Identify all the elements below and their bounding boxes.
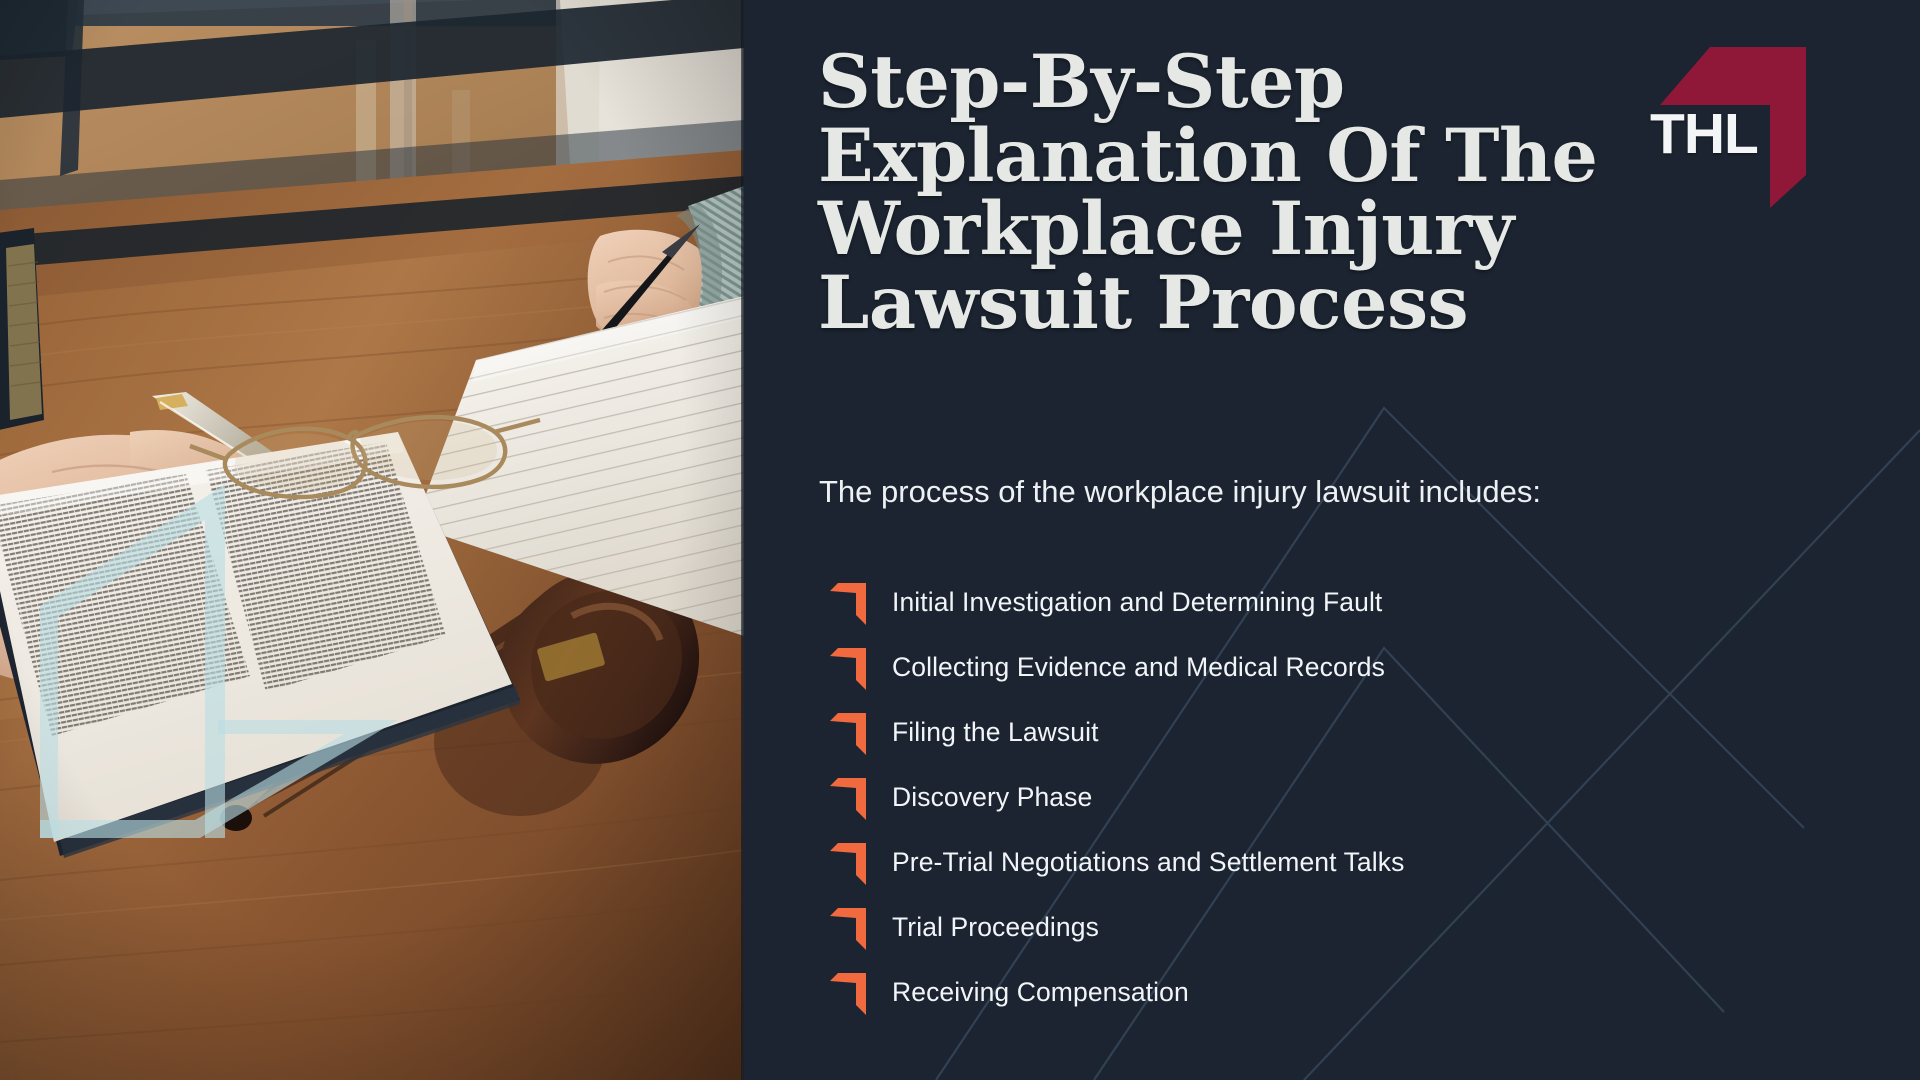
process-step-1: Initial Investigation and Determining Fa… <box>818 570 1828 635</box>
desk-scene-illustration <box>0 0 744 1080</box>
list-item-label: Filing the Lawsuit <box>892 717 1099 748</box>
content-column: THL Step-By-Step Explanation Of The Work… <box>818 0 1878 1080</box>
arrow-bullet-icon <box>830 777 866 821</box>
list-item-label: Receiving Compensation <box>892 977 1189 1008</box>
arrow-bullet-icon <box>830 907 866 951</box>
arrow-bullet-icon <box>830 972 866 1016</box>
process-step-4: Discovery Phase <box>818 765 1828 830</box>
arrow-bullet-icon <box>830 582 866 626</box>
process-step-2: Collecting Evidence and Medical Records <box>818 635 1828 700</box>
subtitle: The process of the workplace injury laws… <box>819 473 1819 512</box>
hero-photo <box>0 0 744 1080</box>
page-title: Step-By-Step Explanation Of The Workplac… <box>818 46 1668 341</box>
arrow-bullet-icon <box>830 647 866 691</box>
list-item-label: Discovery Phase <box>892 782 1092 813</box>
content-panel: THL Step-By-Step Explanation Of The Work… <box>744 0 1920 1080</box>
list-item-label: Pre-Trial Negotiations and Settlement Ta… <box>892 847 1404 878</box>
thl-logo[interactable]: THL <box>1646 40 1816 210</box>
list-item-label: Trial Proceedings <box>892 912 1099 943</box>
process-step-5: Pre-Trial Negotiations and Settlement Ta… <box>818 830 1828 895</box>
list-item-label: Collecting Evidence and Medical Records <box>892 652 1385 683</box>
infographic-canvas: THL Step-By-Step Explanation Of The Work… <box>0 0 1920 1080</box>
process-step-3: Filing the Lawsuit <box>818 700 1828 765</box>
process-step-6: Trial Proceedings <box>818 895 1828 960</box>
list-item-label: Initial Investigation and Determining Fa… <box>892 587 1382 618</box>
process-step-7: Receiving Compensation <box>818 960 1828 1025</box>
arrow-bullet-icon <box>830 842 866 886</box>
arrow-bullet-icon <box>830 712 866 756</box>
process-steps-list: Initial Investigation and Determining Fa… <box>818 570 1828 1025</box>
